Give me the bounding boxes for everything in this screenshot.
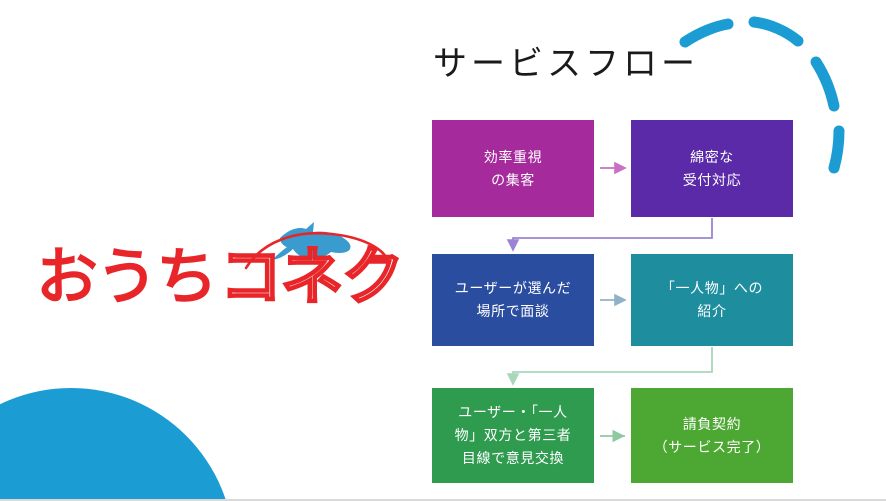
flow-box-detailed-reception[interactable]: 綿密な 受付対応 (631, 120, 793, 217)
arc-segment-4 (834, 131, 839, 168)
brand-logo: おうち コネクト (32, 212, 412, 324)
flow-box-contract-service-complete[interactable]: 請負契約 （サービス完了） (631, 388, 793, 483)
logo-text-outline: コネクト (220, 240, 412, 313)
flow-box-user-chosen-location-meeting[interactable]: ユーザーが選んだ 場所で面談 (432, 254, 594, 346)
connector-r2c2-to-r3c1 (513, 347, 712, 384)
connector-r1c2-to-r2c1 (513, 218, 712, 250)
decorative-circle (0, 388, 234, 501)
flow-box-third-party-opinion-exchange[interactable]: ユーザー・「一人 物」双方と第三者 目線で意見交換 (432, 388, 594, 483)
flow-box-single-person-introduction[interactable]: 「一人物」への 紹介 (631, 254, 793, 346)
arc-segment-3 (816, 62, 834, 106)
page-title: サービスフロー (433, 44, 793, 85)
arc-segment-1 (685, 24, 728, 42)
arc-segment-2 (754, 22, 798, 41)
logo-text-solid: おうち (36, 240, 216, 313)
flow-box-efficiency-acquisition[interactable]: 効率重視 の集客 (432, 120, 594, 217)
presentation-slide: おうち コネクト サービスフロー (0, 0, 886, 501)
